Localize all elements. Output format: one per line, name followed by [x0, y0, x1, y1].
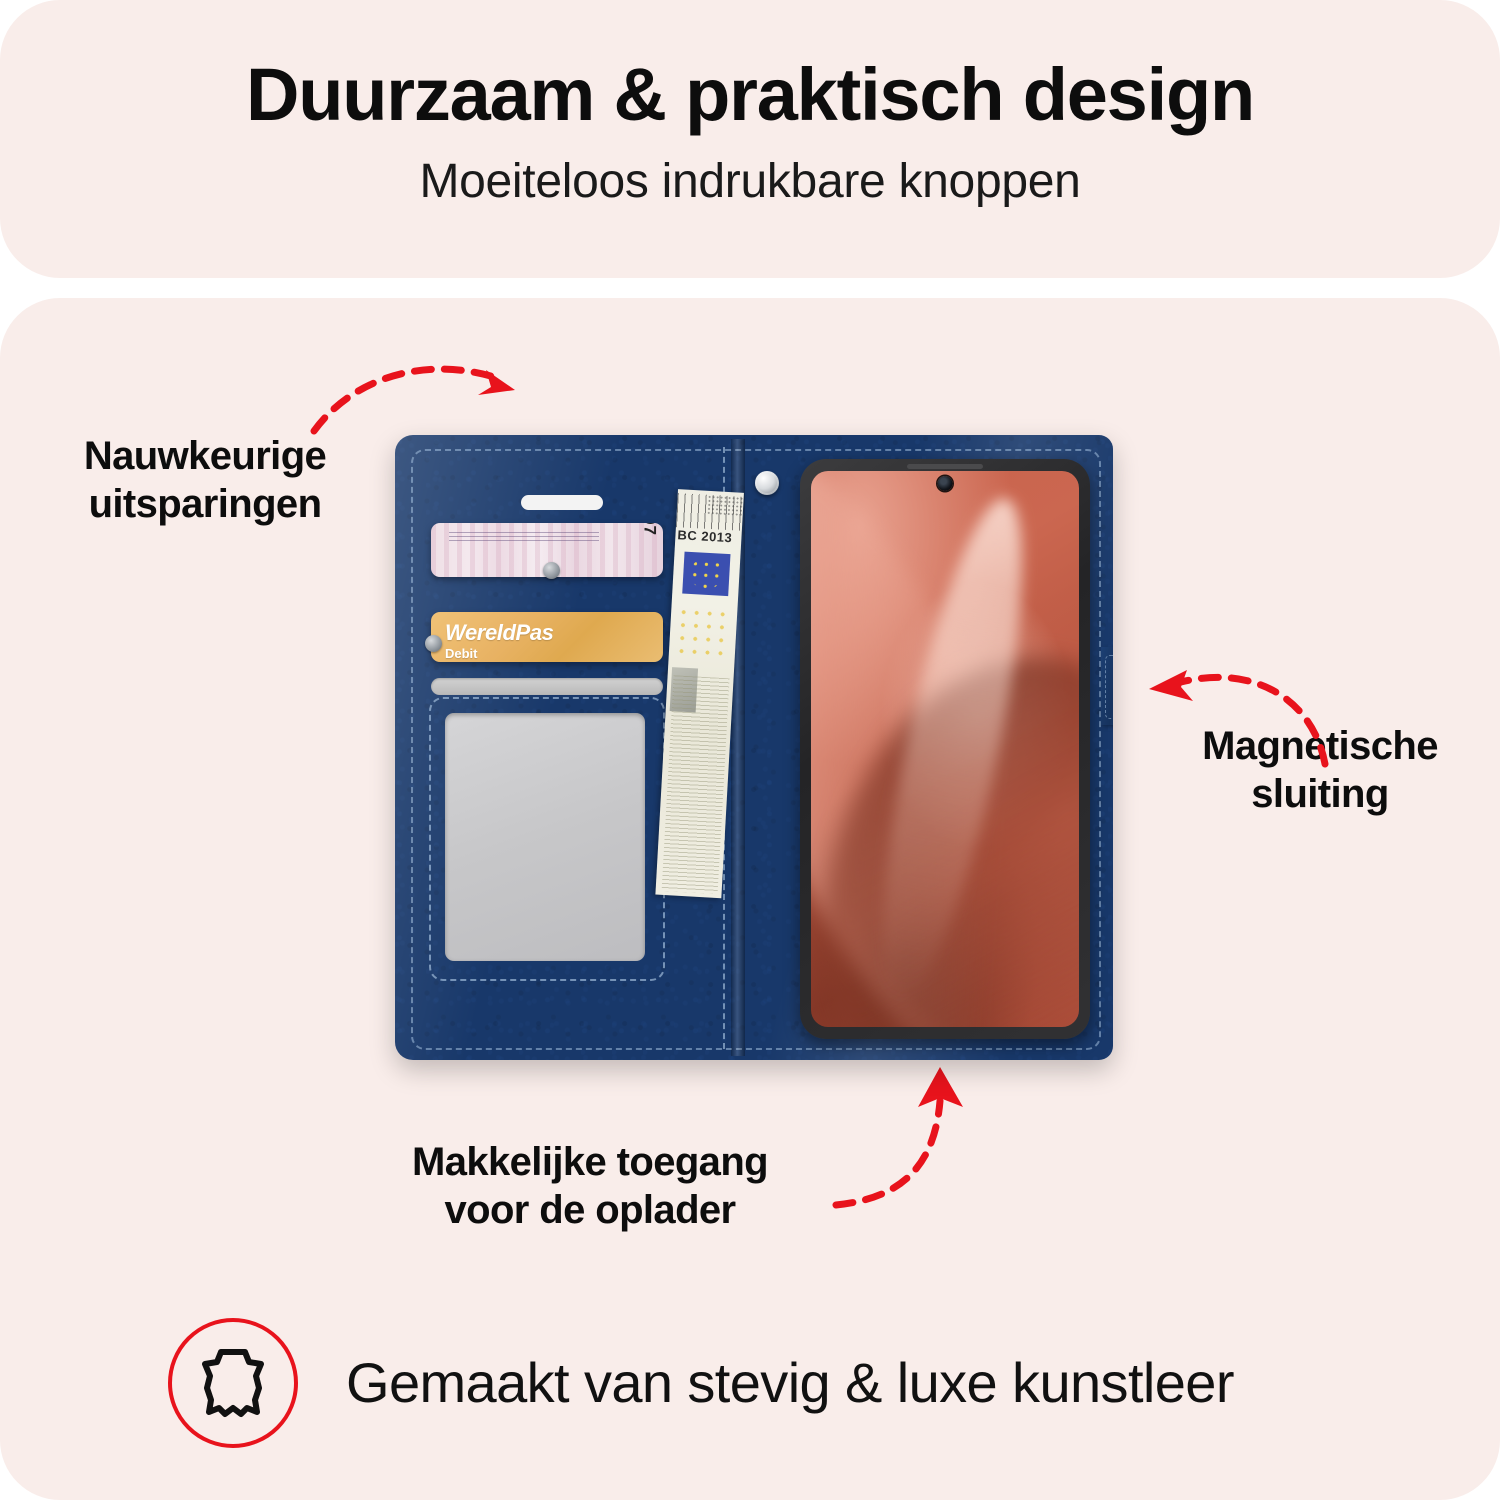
- product-image-wallet-case: 797 WereldPas Debit BC 2013: [385, 425, 1145, 1070]
- banknote-pattern: [662, 675, 730, 894]
- page-subtitle: Moeiteloos indrukbare knoppen: [0, 152, 1500, 212]
- id-card-microtext: [449, 532, 599, 542]
- magnetic-closure-tab: [1101, 647, 1113, 725]
- callout-precise-cutouts: Nauwkeurige uitsparingen: [40, 432, 370, 528]
- front-camera-icon: [938, 476, 953, 491]
- debit-card-brand: WereldPas: [445, 620, 554, 646]
- infographic-canvas: Duurzaam & praktisch design Moeiteloos i…: [0, 0, 1500, 1500]
- phone-in-case: [800, 459, 1090, 1039]
- tab-stitching: [1105, 655, 1113, 719]
- eu-stars: [689, 558, 725, 590]
- magnetic-snap-rivet: [755, 471, 779, 495]
- card-slot-rivet: [543, 562, 560, 579]
- leather-hide-icon: [199, 1346, 267, 1420]
- earpiece-speaker: [907, 464, 983, 469]
- id-card-number: 797: [639, 523, 659, 536]
- banknote-dots: [707, 495, 744, 517]
- banknote-serial-text: BC 2013: [677, 527, 733, 545]
- callout-charger-access: Makkelijke toegang voor de oplader: [355, 1138, 825, 1234]
- photo-id-window: [445, 713, 645, 961]
- callout-magnetic-closure: Magnetische sluiting: [1160, 722, 1480, 818]
- header-panel: Duurzaam & praktisch design Moeiteloos i…: [0, 0, 1500, 278]
- material-bar: Gemaakt van stevig & luxe kunstleer: [168, 1318, 1438, 1448]
- banknote-star-arc: [675, 605, 734, 662]
- card-slot-rivet: [425, 635, 442, 652]
- page-title: Duurzaam & praktisch design: [0, 53, 1500, 137]
- empty-card-slot: [431, 678, 663, 695]
- eu-flag-icon: [682, 552, 730, 597]
- debit-card-type: Debit: [445, 646, 478, 661]
- leather-badge: [168, 1318, 298, 1448]
- material-text: Gemaakt van stevig & luxe kunstleer: [346, 1351, 1234, 1415]
- case-body: 797 WereldPas Debit BC 2013: [395, 435, 1113, 1060]
- top-slot-opening: [521, 495, 603, 510]
- phone-screen: [811, 471, 1079, 1027]
- debit-card: WereldPas Debit: [431, 612, 663, 662]
